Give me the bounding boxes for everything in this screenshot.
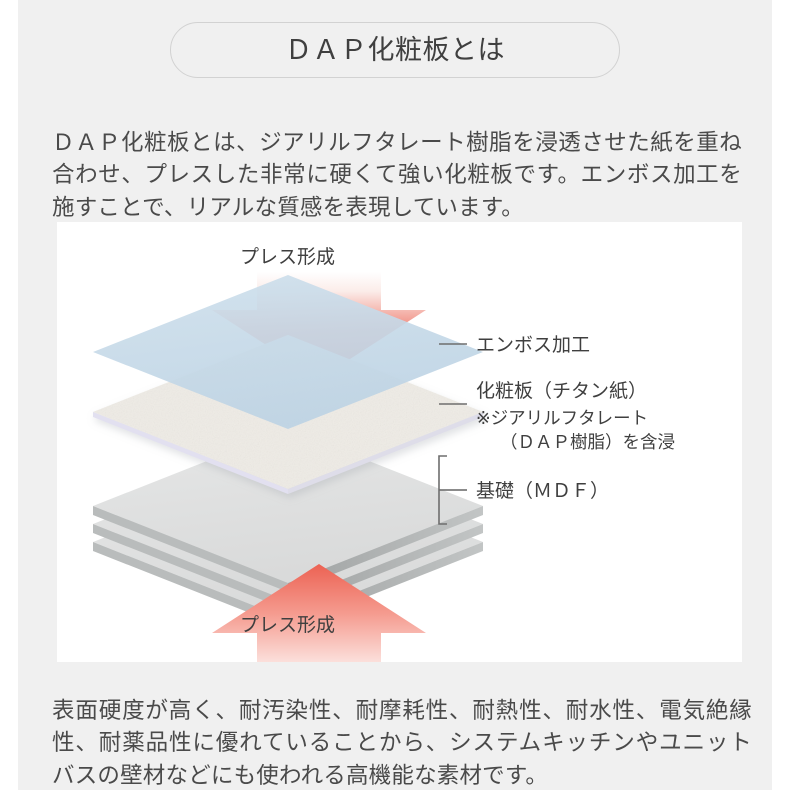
mdf-base-label: 基礎（ＭＤＦ） <box>476 480 609 504</box>
press-bottom-label: プレス形成 <box>240 614 335 638</box>
emboss-layer-label: エンボス加工 <box>476 334 590 358</box>
decorative-sheet-note-line2: （ＤＡＰ樹脂）を含浸 <box>500 431 675 453</box>
page-title-pill: ＤＡＰ化粧板とは <box>170 22 620 78</box>
intro-paragraph: ＤＡＰ化粧板とは、ジアリルフタレート樹脂を浸透させた紙を重ね合わせ、プレスした非… <box>52 127 742 225</box>
press-top-label: プレス形成 <box>240 246 335 270</box>
decorative-sheet-note-line1: ※ジアリルフタレート <box>476 407 648 429</box>
page-root: ＤＡＰ化粧板とは ＤＡＰ化粧板とは、ジアリルフタレート樹脂を浸透させた紙を重ね合… <box>18 0 772 790</box>
page-title: ＤＡＰ化粧板とは <box>285 37 505 64</box>
outro-paragraph: 表面硬度が高く、耐汚染性、耐摩耗性、耐熱性、耐水性、電気絶縁性、耐薬品性に優れて… <box>52 695 752 790</box>
layer-diagram-panel: プレス形成 プレス形成 エンボス加工 化粧板（チタン紙） ※ジアリルフタレート … <box>57 222 742 662</box>
decorative-sheet-label: 化粧板（チタン紙） <box>476 380 647 404</box>
